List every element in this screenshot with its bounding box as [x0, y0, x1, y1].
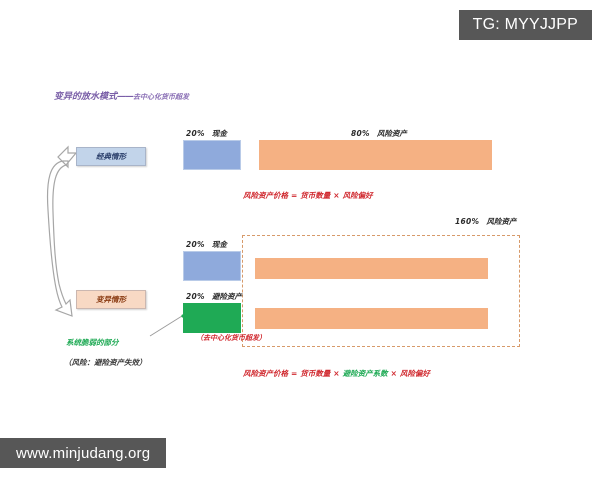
title-subtitle: 去中心化货币超发 [133, 93, 189, 101]
annotation-leader-line [150, 316, 182, 336]
case-label-mutant: 变异情形 [76, 290, 146, 309]
bar-risk-row2-upper [255, 258, 488, 279]
caption-cash-row1: 20%现金 [186, 128, 227, 139]
caption-risk-row2-name: 风险资产 [486, 217, 516, 226]
diagram-canvas: 变异的放水模式——去中心化货币超发 经典情形 变异情形 20%现金 80%风险资… [0, 0, 600, 480]
formula-mutant-eq: = [291, 369, 297, 378]
page-title: 变异的放水模式——去中心化货币超发 [54, 89, 189, 102]
formula-classic-lhs: 风险资产价格 [243, 191, 288, 200]
bar-cash-row1 [183, 140, 241, 170]
formula-classic: 风险资产价格=货币数量×风险偏好 [243, 190, 373, 201]
formula-mutant-lhs: 风险资产价格 [243, 369, 288, 378]
bar-cash-row2 [183, 251, 241, 281]
caption-safe-row2-name: 避险资产 [212, 292, 242, 301]
formula-mutant-mul1: × [333, 369, 339, 378]
telegram-watermark-badge: TG: MYYJJPP [459, 10, 592, 40]
bar-risk-row1 [259, 140, 492, 170]
formula-classic-eq: = [291, 191, 297, 200]
caption-risk-row1-pct: 80% [351, 129, 370, 138]
caption-risk-row2: 160%风险资产 [455, 216, 516, 227]
formula-classic-term2: 风险偏好 [343, 191, 373, 200]
caption-cash-row1-pct: 20% [186, 129, 205, 138]
caption-risk-row1-name: 风险资产 [377, 129, 407, 138]
annotation-risk-note: （风险：避险资产失效） [64, 357, 147, 368]
bar-risk-row2-lower [255, 308, 488, 329]
title-main: 变异的放水模式 [54, 92, 117, 102]
formula-mutant: 风险资产价格=货币数量×避险资产系数×风险偏好 [243, 368, 430, 379]
caption-cash-row2-pct: 20% [186, 240, 205, 249]
transition-arrow-icon [48, 147, 76, 316]
caption-cash-row2: 20%现金 [186, 239, 227, 250]
risk-asset-group-box [242, 235, 520, 347]
caption-safe-row2-pct: 20% [186, 292, 205, 301]
caption-cash-row2-name: 现金 [212, 240, 227, 249]
formula-mutant-term3: 风险偏好 [400, 369, 430, 378]
annotation-decentralized-issuance: （去中心化货币超发） [196, 333, 266, 343]
formula-mutant-term1: 货币数量 [300, 369, 330, 378]
title-dash: —— [117, 92, 133, 102]
annotation-fragile-part: 系统脆弱的部分 [66, 337, 119, 348]
case-label-classic: 经典情形 [76, 147, 146, 166]
formula-classic-mul1: × [333, 191, 339, 200]
formula-classic-term1: 货币数量 [300, 191, 330, 200]
caption-cash-row1-name: 现金 [212, 129, 227, 138]
bar-safe-asset-row2 [183, 303, 241, 333]
caption-safe-row2: 20%避险资产 [186, 291, 242, 302]
caption-risk-row1: 80%风险资产 [351, 128, 407, 139]
site-watermark-badge: www.minjudang.org [0, 438, 166, 468]
caption-risk-row2-pct: 160% [455, 217, 479, 226]
formula-mutant-mul2: × [391, 369, 397, 378]
formula-mutant-term2: 避险资产系数 [343, 369, 388, 378]
